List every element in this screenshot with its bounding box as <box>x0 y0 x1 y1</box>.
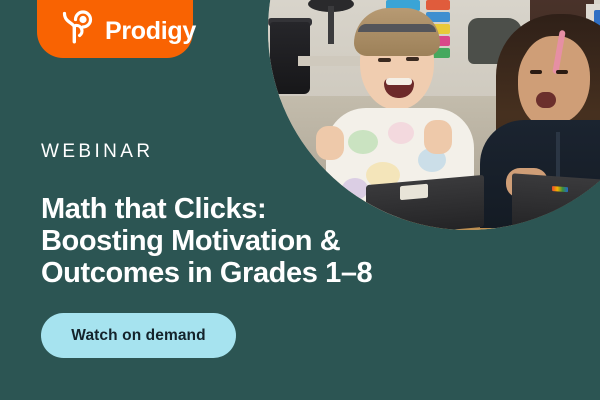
eyebrow-label: WEBINAR <box>41 141 153 163</box>
prodigy-wordmark: Prodigy <box>105 19 196 46</box>
student-left-headband <box>358 24 436 32</box>
prodigy-p-logo-icon <box>61 8 95 46</box>
laptop-logo-icon <box>552 186 568 192</box>
headline-line-3: Outcomes in Grades 1–8 <box>41 257 481 289</box>
watch-on-demand-button[interactable]: Watch on demand <box>41 313 236 358</box>
student-left-fist <box>316 126 344 160</box>
laptop-right <box>512 173 600 230</box>
student-left-fist <box>424 120 452 154</box>
prodigy-logo-pill[interactable]: Prodigy <box>37 0 193 58</box>
student-left-hair-top <box>354 8 440 56</box>
stool-pole <box>328 6 334 44</box>
headline-line-2: Boosting Motivation & <box>41 225 481 257</box>
student-right-eye <box>530 70 542 74</box>
student-right-face <box>518 42 580 128</box>
student-left-eye <box>406 57 419 61</box>
webinar-promo-banner: Prodigy WEBINAR Math that Clicks: Boosti… <box>0 0 600 400</box>
student-left-teeth <box>386 78 412 85</box>
headline-line-1: Math that Clicks: <box>41 193 481 225</box>
student-right-eye <box>556 70 568 74</box>
student-left-eye <box>378 58 391 62</box>
headline: Math that Clicks: Boosting Motivation & … <box>41 193 481 289</box>
student-right-mouth <box>536 92 556 108</box>
